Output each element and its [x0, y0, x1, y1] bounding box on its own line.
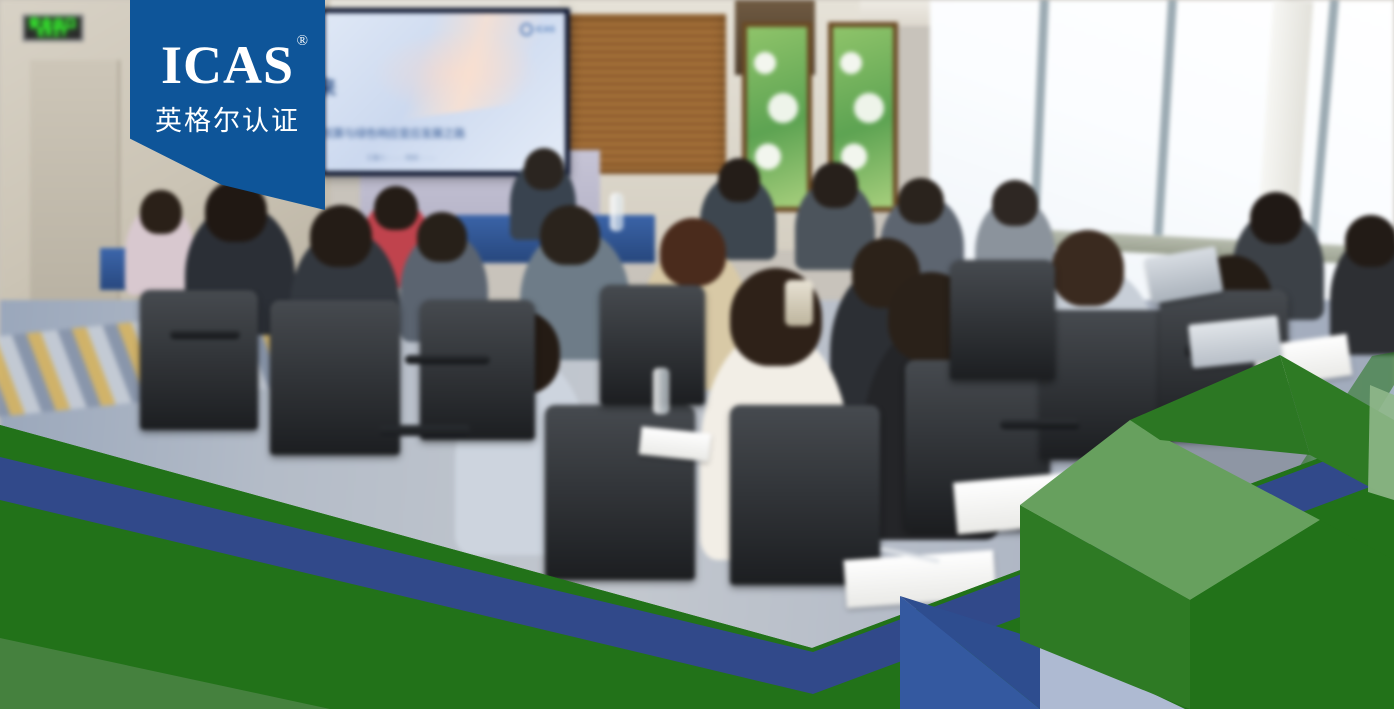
water-bottle — [610, 193, 623, 231]
attendee-head — [524, 148, 564, 190]
chair — [730, 405, 880, 585]
banner-canvas: 安全出口 EXIT — [0, 0, 1394, 709]
icas-wordmark-text: ICAS — [161, 35, 294, 95]
hair-clip — [785, 280, 813, 326]
slide-logo-text: ICAS — [536, 25, 555, 34]
attendee-head — [898, 178, 944, 224]
slide-fine-print: 汇报人：········ 时间：········ — [367, 155, 437, 163]
icas-chinese-name: 英格尔认证 — [155, 99, 300, 138]
exit-sign-text: 安全出口 EXIT — [29, 19, 77, 37]
attendee-head — [1052, 230, 1124, 306]
water-bottle — [653, 368, 669, 414]
chair-armrest — [1000, 420, 1080, 429]
registered-trademark-icon: ® — [297, 34, 309, 49]
attendee-head — [1250, 192, 1302, 244]
chair — [950, 260, 1055, 380]
chair — [1040, 310, 1170, 460]
attendee-head — [540, 205, 600, 265]
icas-wordmark: ICAS® — [161, 38, 294, 92]
exit-sign: 安全出口 EXIT — [22, 14, 84, 42]
tablet-device — [1188, 315, 1282, 368]
chair — [140, 290, 258, 430]
attendee-head — [374, 186, 418, 230]
attendee-head — [718, 158, 760, 202]
chair-armrest — [170, 330, 240, 339]
slide-logo-ring — [520, 23, 533, 36]
attendee-head — [140, 190, 182, 234]
chair — [420, 300, 535, 440]
screen-surface: ICAS 来 碳核算与绿色响应变应发展之路 汇报人：········ 时间：··… — [325, 13, 565, 171]
attendee-head — [1345, 215, 1394, 267]
slide-corner-logo: ICAS — [520, 23, 555, 36]
attendee-head — [660, 218, 726, 286]
attendee-head — [992, 180, 1038, 226]
attendee-head — [812, 162, 858, 208]
attendee-head — [310, 205, 372, 267]
slide-subline: 碳核算与绿色响应变应发展之路 — [325, 125, 465, 141]
chair-armrest — [405, 355, 490, 364]
slide-headline: 来 — [325, 73, 336, 100]
chair-tablet-arm — [380, 425, 470, 436]
attendee-head — [417, 212, 467, 262]
